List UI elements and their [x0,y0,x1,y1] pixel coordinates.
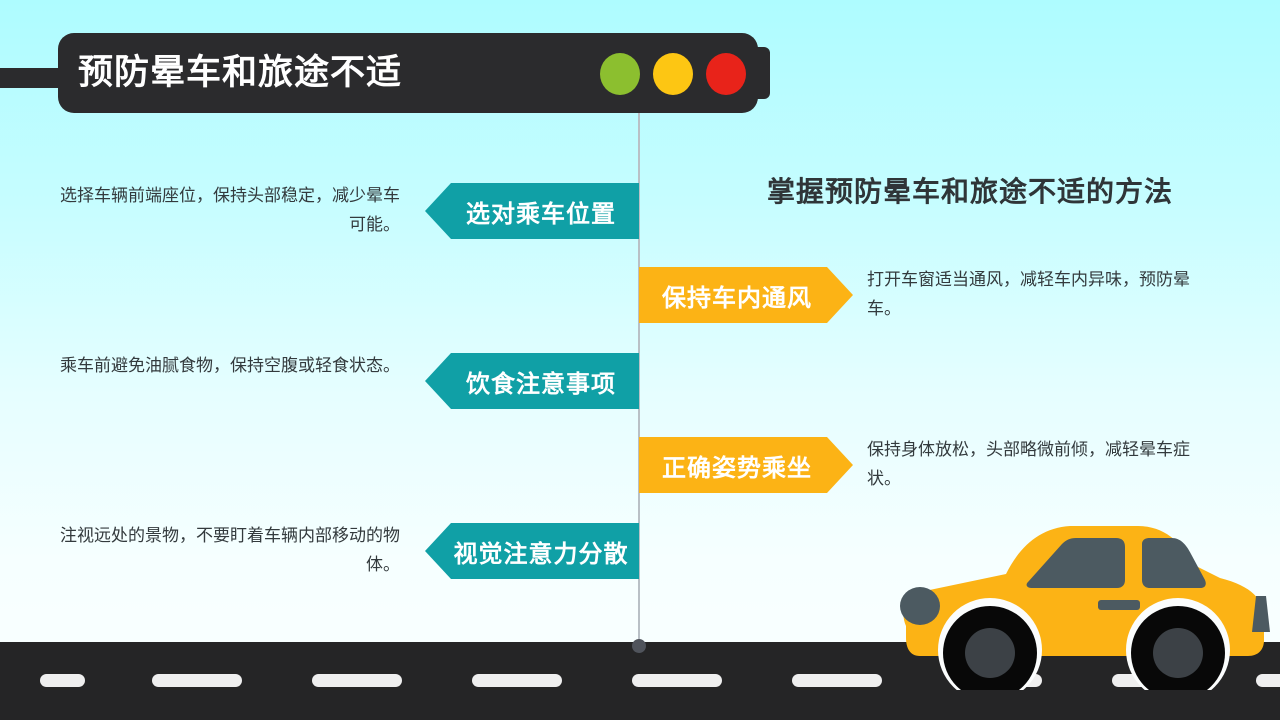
item-label-banner[interactable]: 视觉注意力分散 [425,523,639,579]
item-description: 保持身体放松，头部略微前倾，减轻晕车症状。 [867,435,1207,493]
road-dash [40,674,85,687]
item-description: 选择车辆前端座位，保持头部稳定，减少晕车可能。 [60,181,400,239]
item-description: 注视远处的景物，不要盯着车辆内部移动的物体。 [60,521,400,579]
list-item[interactable]: 选择车辆前端座位，保持头部稳定，减少晕车可能。 选对乘车位置 [60,183,639,239]
item-description: 打开车窗适当通风，减轻车内异味，预防晕车。 [867,265,1207,323]
slide-canvas: 预防晕车和旅途不适 掌握预防晕车和旅途不适的方法 选择车辆前端座位，保持头部稳定… [0,0,1280,720]
page-title: 预防晕车和旅途不适 [78,48,578,98]
item-description: 乘车前避免油腻食物，保持空腹或轻食状态。 [60,351,400,380]
item-label-banner[interactable]: 饮食注意事项 [425,353,639,409]
timeline-end-dot [632,639,646,653]
car-front-hub [965,628,1015,678]
car-headlight [900,587,940,625]
item-label-banner[interactable]: 保持车内通风 [639,267,853,323]
list-item[interactable]: 乘车前避免油腻食物，保持空腹或轻食状态。 饮食注意事项 [60,353,639,409]
car-illustration [880,500,1280,690]
item-label-banner[interactable]: 选对乘车位置 [425,183,639,239]
traffic-light-lamps [600,53,750,95]
list-item[interactable]: 保持车内通风 打开车窗适当通风，减轻车内异味，预防晕车。 [639,267,1220,323]
road-dash [792,674,882,687]
yellow-light [653,53,693,95]
road-dash [472,674,562,687]
section-headline: 掌握预防晕车和旅途不适的方法 [700,170,1240,210]
list-item[interactable]: 正确姿势乘坐 保持身体放松，头部略微前倾，减轻晕车症状。 [639,437,1220,493]
road-dash [312,674,402,687]
car-rear-window [1142,538,1206,588]
car-door-handle [1098,600,1140,610]
car-rear-hub [1153,628,1203,678]
road-dash [632,674,722,687]
road-dash [152,674,242,687]
item-label-banner[interactable]: 正确姿势乘坐 [639,437,853,493]
green-light [600,53,640,95]
list-item[interactable]: 注视远处的景物，不要盯着车辆内部移动的物体。 视觉注意力分散 [60,523,639,579]
red-light [706,53,746,95]
